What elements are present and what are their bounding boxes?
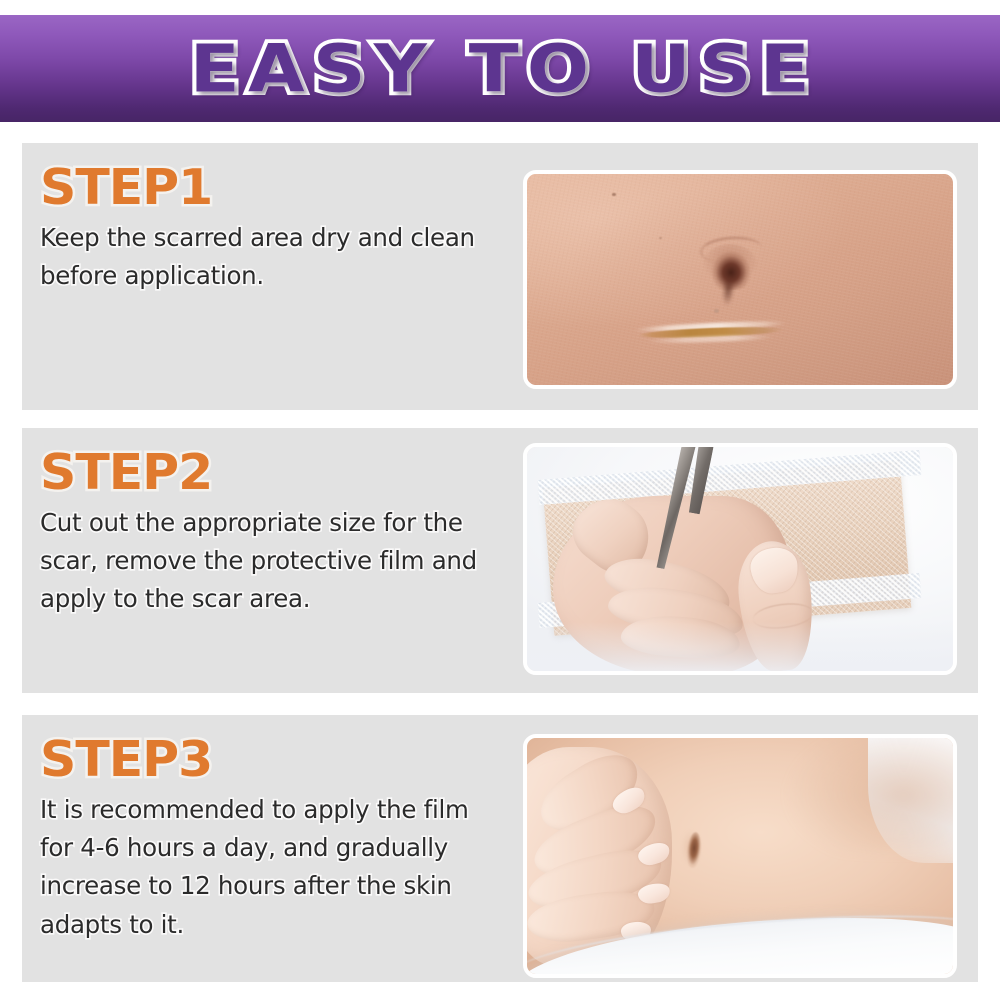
waist-shading xyxy=(740,738,953,851)
header-banner: EASY TO USE xyxy=(0,15,1000,122)
step-1-photo xyxy=(523,170,957,389)
photo-vignette xyxy=(527,622,953,671)
scarred-abdomen-image xyxy=(527,174,953,385)
cutting-scar-sheet-image xyxy=(527,447,953,671)
step-2-description: Cut out the appropriate size for the sca… xyxy=(40,504,480,619)
step-panel-2: STEP2 Cut out the appropriate size for t… xyxy=(22,428,978,693)
step-1-description: Keep the scarred area dry and clean befo… xyxy=(40,219,490,295)
step-2-label: STEP2 xyxy=(40,448,524,498)
step-panel-1: STEP1 Keep the scarred area dry and clea… xyxy=(22,143,978,410)
step-3-photo xyxy=(523,734,957,978)
step-2-text-column: STEP2 Cut out the appropriate size for t… xyxy=(40,428,510,693)
step-3-description: It is recommended to apply the film for … xyxy=(40,791,480,944)
step-panel-3: STEP3 It is recommended to apply the fil… xyxy=(22,715,978,982)
page-title: EASY TO USE xyxy=(182,36,818,102)
step-2-photo xyxy=(523,443,957,675)
step-1-label: STEP1 xyxy=(40,163,524,213)
product-instruction-page: EASY TO USE STEP1 Keep the scarred area … xyxy=(0,0,1000,1000)
abdomen-with-hand-image xyxy=(527,738,953,974)
step-3-text-column: STEP3 It is recommended to apply the fil… xyxy=(40,715,510,982)
step-1-text-column: STEP1 Keep the scarred area dry and clea… xyxy=(40,143,510,410)
step-3-label: STEP3 xyxy=(40,735,524,785)
